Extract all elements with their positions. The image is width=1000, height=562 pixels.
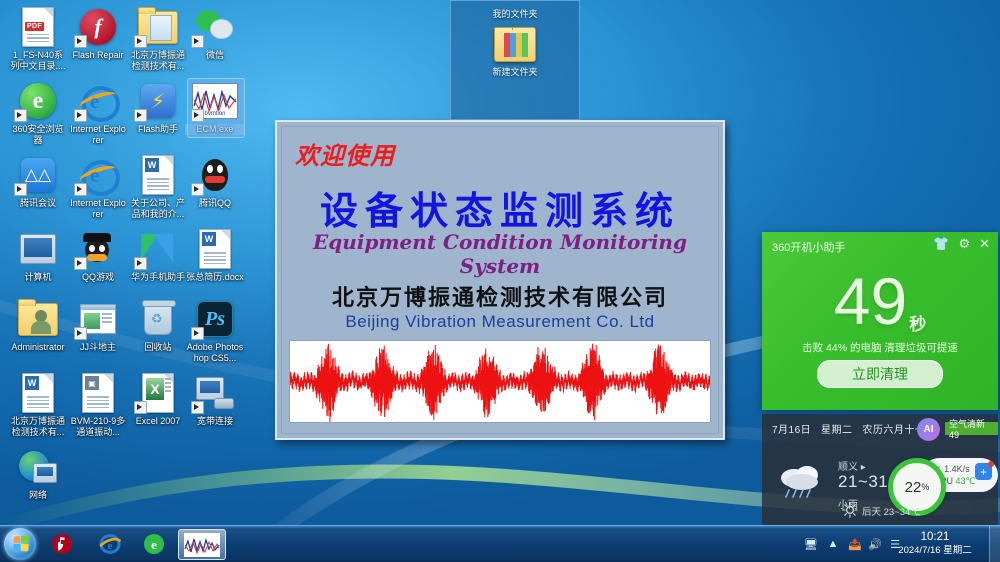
company-name-english: Beijing Vibration Measurement Co. Ltd xyxy=(277,312,723,332)
desktop-icon[interactable]: JJ斗地主 xyxy=(68,296,128,353)
shortcut-overlay-icon xyxy=(74,257,87,270)
desktop-icon-label: 网络 xyxy=(8,490,68,501)
desktop-icon[interactable]: W关于公司、产品和我的介... xyxy=(128,152,188,219)
taskbar[interactable]: e e 🖥 ▲ 📤 🔊 ☰ 10:21 2024/7/16 星期二 xyxy=(0,525,1000,562)
plus-icon[interactable]: + xyxy=(975,463,992,480)
desktop-icon[interactable]: 网络 xyxy=(8,444,68,501)
desktop-icon[interactable]: 腾讯QQ xyxy=(185,152,245,209)
desktop-icon[interactable]: W张总简历.docx xyxy=(185,226,245,283)
desktop-icon-label: 回收站 xyxy=(128,342,188,353)
desktop-icon[interactable]: 计算机 xyxy=(8,226,68,283)
system-title-chinese: 设备状态监测系统 xyxy=(277,180,723,235)
desktop-icon-label: 360安全浏览器 xyxy=(8,124,68,145)
desktop-icon-label: Flash助手 xyxy=(128,124,188,135)
flash-assistant-icon: ⚡ xyxy=(128,78,188,124)
broadband-connection-icon xyxy=(185,370,245,416)
taskbar-task-ecm[interactable] xyxy=(178,529,226,560)
qq-games-icon xyxy=(68,226,128,272)
shortcut-overlay-icon xyxy=(191,327,204,340)
desktop-icon[interactable]: ⚡Flash助手 xyxy=(128,78,188,135)
jj-landlord-icon xyxy=(68,296,128,342)
system-title-english: Equipment Condition Monitoring System xyxy=(277,230,723,278)
weather-system-widget[interactable]: 7月16日 星期二 农历六月十一 AI 空气清新 49 顺义 ▸ 21~31℃ … xyxy=(762,414,998,526)
svg-text:e: e xyxy=(151,537,157,552)
weather-date-line: 7月16日 星期二 农历六月十一 xyxy=(772,421,925,436)
humidity-unit: % xyxy=(921,482,929,492)
photoshop-icon: Ps xyxy=(185,296,245,342)
weather-weekday: 星期二 xyxy=(821,425,853,436)
shortcut-overlay-icon xyxy=(134,109,147,122)
close-icon[interactable]: ✕ xyxy=(979,237,990,250)
desktop-icon-label: Flash Repair xyxy=(68,50,128,61)
taskbar-clock[interactable]: 10:21 2024/7/16 星期二 xyxy=(892,530,978,557)
desktop-icon[interactable]: PsAdobe Photoshop CS5... xyxy=(185,296,245,363)
flash-player-icon xyxy=(51,533,73,555)
action-center-icon[interactable]: 📤 xyxy=(848,537,862,551)
boot-time-subtitle: 击败 44% 的电脑 清理垃圾可提速 xyxy=(762,340,998,355)
desktop-icon[interactable]: e360安全浏览器 xyxy=(8,78,68,145)
desktop-icon[interactable]: bvmtionECM.exe xyxy=(185,78,245,135)
desktop-icon-label: Internet Explorer xyxy=(68,124,128,145)
desktop-icon[interactable]: 宽带连接 xyxy=(185,370,245,427)
huawei-assistant-icon xyxy=(128,226,188,272)
qq-penguin-icon xyxy=(185,152,245,198)
desktop-icon[interactable]: XExcel 2007 xyxy=(128,370,188,427)
ecm-waveform-icon xyxy=(184,533,220,557)
sun-icon xyxy=(842,502,858,518)
user-folder-icon xyxy=(8,296,68,342)
shortcut-overlay-icon xyxy=(74,109,87,122)
gear-icon[interactable]: ⚙ xyxy=(958,237,970,250)
word-document-icon: W xyxy=(8,370,68,416)
ai-button[interactable]: AI xyxy=(917,418,940,441)
shortcut-overlay-icon xyxy=(134,35,147,48)
desktop-icon-label: 腾讯QQ xyxy=(185,198,245,209)
shortcut-overlay-icon xyxy=(74,35,87,48)
desktop-icon-label: 北京万博振通检测技术有... xyxy=(128,50,188,71)
shortcut-overlay-icon xyxy=(74,327,87,340)
network-icon xyxy=(8,444,68,490)
boot-time-value: 49秒 xyxy=(762,268,998,334)
cpu-temp-value: 43℃ xyxy=(956,476,976,486)
desktop-icon-label: Administrator xyxy=(8,342,68,353)
quicklaunch-internet-explorer[interactable]: e xyxy=(96,530,124,558)
desktop-icon[interactable]: QQ游戏 xyxy=(68,226,128,283)
recycle-bin-icon: ♻ xyxy=(128,296,188,342)
network-speed-value: 1.4K/s xyxy=(944,464,970,474)
desktop-icon[interactable]: fFlash Repair xyxy=(68,4,128,61)
desktop-icon-label: 宽带连接 xyxy=(185,416,245,427)
desktop-icon-label: Excel 2007 xyxy=(128,416,188,427)
wechat-icon xyxy=(185,4,245,50)
desktop-icon[interactable]: 华为手机助手 xyxy=(128,226,188,283)
360-boot-assistant-widget[interactable]: 360开机小助手 👕 ⚙ ✕ 49秒 击败 44% 的电脑 清理垃圾可提速 立即… xyxy=(762,232,998,410)
start-button[interactable] xyxy=(4,528,36,560)
volume-icon[interactable]: 🔊 xyxy=(868,537,882,551)
desktop-icon-label: Internet Explorer xyxy=(68,198,128,219)
desktop-icon[interactable]: W北京万博振通检测技术有... xyxy=(8,370,68,437)
flash-repair-icon: f xyxy=(68,4,128,50)
word-document-icon: W xyxy=(128,152,188,198)
humidity-value: 22 xyxy=(905,479,922,496)
desktop-icon[interactable]: PDF1_FS-N40系列中文目录.... xyxy=(8,4,68,71)
desktop-icon[interactable]: ♻回收站 xyxy=(128,296,188,353)
ecm-waveform-icon: bvmtion xyxy=(185,78,245,124)
desktop-icon[interactable]: ▣BVM-210-9多通道振动... xyxy=(68,370,128,437)
excel-icon: X xyxy=(128,370,188,416)
widget-360-title: 360开机小助手 xyxy=(772,239,845,255)
desktop-icon-label: BVM-210-9多通道振动... xyxy=(68,416,128,437)
folder-preview-popup[interactable]: 我的文件夹 新建文件夹 xyxy=(450,0,580,120)
desktop-icon-label: 北京万博振通检测技术有... xyxy=(8,416,68,437)
desktop-icon-label: JJ斗地主 xyxy=(68,342,128,353)
weather-date: 7月16日 xyxy=(772,425,811,436)
welcome-text: 欢迎使用 xyxy=(295,136,395,171)
show-desktop-button[interactable] xyxy=(989,526,1000,562)
desktop-icon[interactable]: eInternet Explorer xyxy=(68,78,128,145)
shortcut-overlay-icon xyxy=(14,109,27,122)
desktop-icon[interactable]: 北京万博振通检测技术有... xyxy=(128,4,188,71)
desktop-icon[interactable]: △△腾讯会议 xyxy=(8,152,68,209)
weather-lunar: 农历六月十一 xyxy=(862,425,925,436)
desktop-icon-label: 计算机 xyxy=(8,272,68,283)
weather-forecast: 后天 23~34℃ xyxy=(862,504,921,518)
360-browser-icon: e xyxy=(8,78,68,124)
vibration-waveform-chart xyxy=(289,340,711,423)
widget-360-controls: 👕 ⚙ ✕ xyxy=(933,237,990,250)
weather-location: 顺义 ▸ xyxy=(838,458,866,473)
svg-text:bvmtion: bvmtion xyxy=(204,111,225,117)
document-icon: ▣ xyxy=(68,370,128,416)
desktop-icon[interactable]: Administrator xyxy=(8,296,68,353)
windows-logo-icon xyxy=(14,535,29,551)
company-name-chinese: 北京万博振通检测技术有限公司 xyxy=(277,280,723,312)
tencent-meeting-icon: △△ xyxy=(8,152,68,198)
air-quality-badge: 空气清新 49 xyxy=(945,422,998,435)
tray-hidden-icon[interactable]: 🖥 xyxy=(804,537,818,551)
desktop-icon[interactable]: eInternet Explorer xyxy=(68,152,128,219)
shortcut-overlay-icon xyxy=(191,183,204,196)
shortcut-overlay-icon xyxy=(14,183,27,196)
shortcut-overlay-icon xyxy=(74,183,87,196)
folder-popup-title: 我的文件夹 xyxy=(451,1,579,20)
shortcut-overlay-icon xyxy=(134,257,147,270)
clean-now-button[interactable]: 立即清理 xyxy=(817,360,943,388)
360-browser-icon: e xyxy=(142,532,166,556)
desktop-icon-label: 关于公司、产品和我的介... xyxy=(128,198,188,219)
internet-explorer-icon: e xyxy=(98,532,122,556)
desktop-icon-label: 腾讯会议 xyxy=(8,198,68,209)
quicklaunch-flash-player[interactable] xyxy=(48,530,76,558)
shirt-icon[interactable]: 👕 xyxy=(933,237,949,250)
clock-date: 2024/7/16 星期二 xyxy=(892,544,978,557)
pdf-document-icon: PDF xyxy=(8,4,68,50)
show-hidden-icons-arrow[interactable]: ▲ xyxy=(826,537,840,551)
desktop-icon-label: 1_FS-N40系列中文目录.... xyxy=(8,50,68,71)
boot-time-unit: 秒 xyxy=(909,315,926,334)
desktop-icon-label: 华为手机助手 xyxy=(128,272,188,283)
desktop-icon[interactable]: 微信 xyxy=(185,4,245,61)
clock-time: 10:21 xyxy=(892,530,978,544)
desktop-icon-label: 微信 xyxy=(185,50,245,61)
shortcut-overlay-icon xyxy=(191,35,204,48)
shortcut-overlay-icon xyxy=(191,401,204,414)
splash-window[interactable]: 欢迎使用 设备状态监测系统 Equipment Condition Monito… xyxy=(275,120,725,440)
folder-icon xyxy=(494,27,536,62)
internet-explorer-icon: e xyxy=(68,78,128,124)
folder-icon xyxy=(128,4,188,50)
rain-cloud-icon xyxy=(774,458,832,502)
word-document-icon: W xyxy=(185,226,245,272)
shortcut-overlay-icon xyxy=(134,401,147,414)
quicklaunch-360-browser[interactable]: e xyxy=(140,530,168,558)
shortcut-overlay-icon xyxy=(191,109,204,122)
svg-text:e: e xyxy=(108,540,113,552)
folder-popup-item-label: 新建文件夹 xyxy=(492,65,537,78)
computer-icon xyxy=(8,226,68,272)
desktop-icon-label: Adobe Photoshop CS5... xyxy=(185,342,245,363)
internet-explorer-icon: e xyxy=(68,152,128,198)
desktop-icon-label: QQ游戏 xyxy=(68,272,128,283)
desktop-icon-label: 张总简历.docx xyxy=(185,272,245,283)
